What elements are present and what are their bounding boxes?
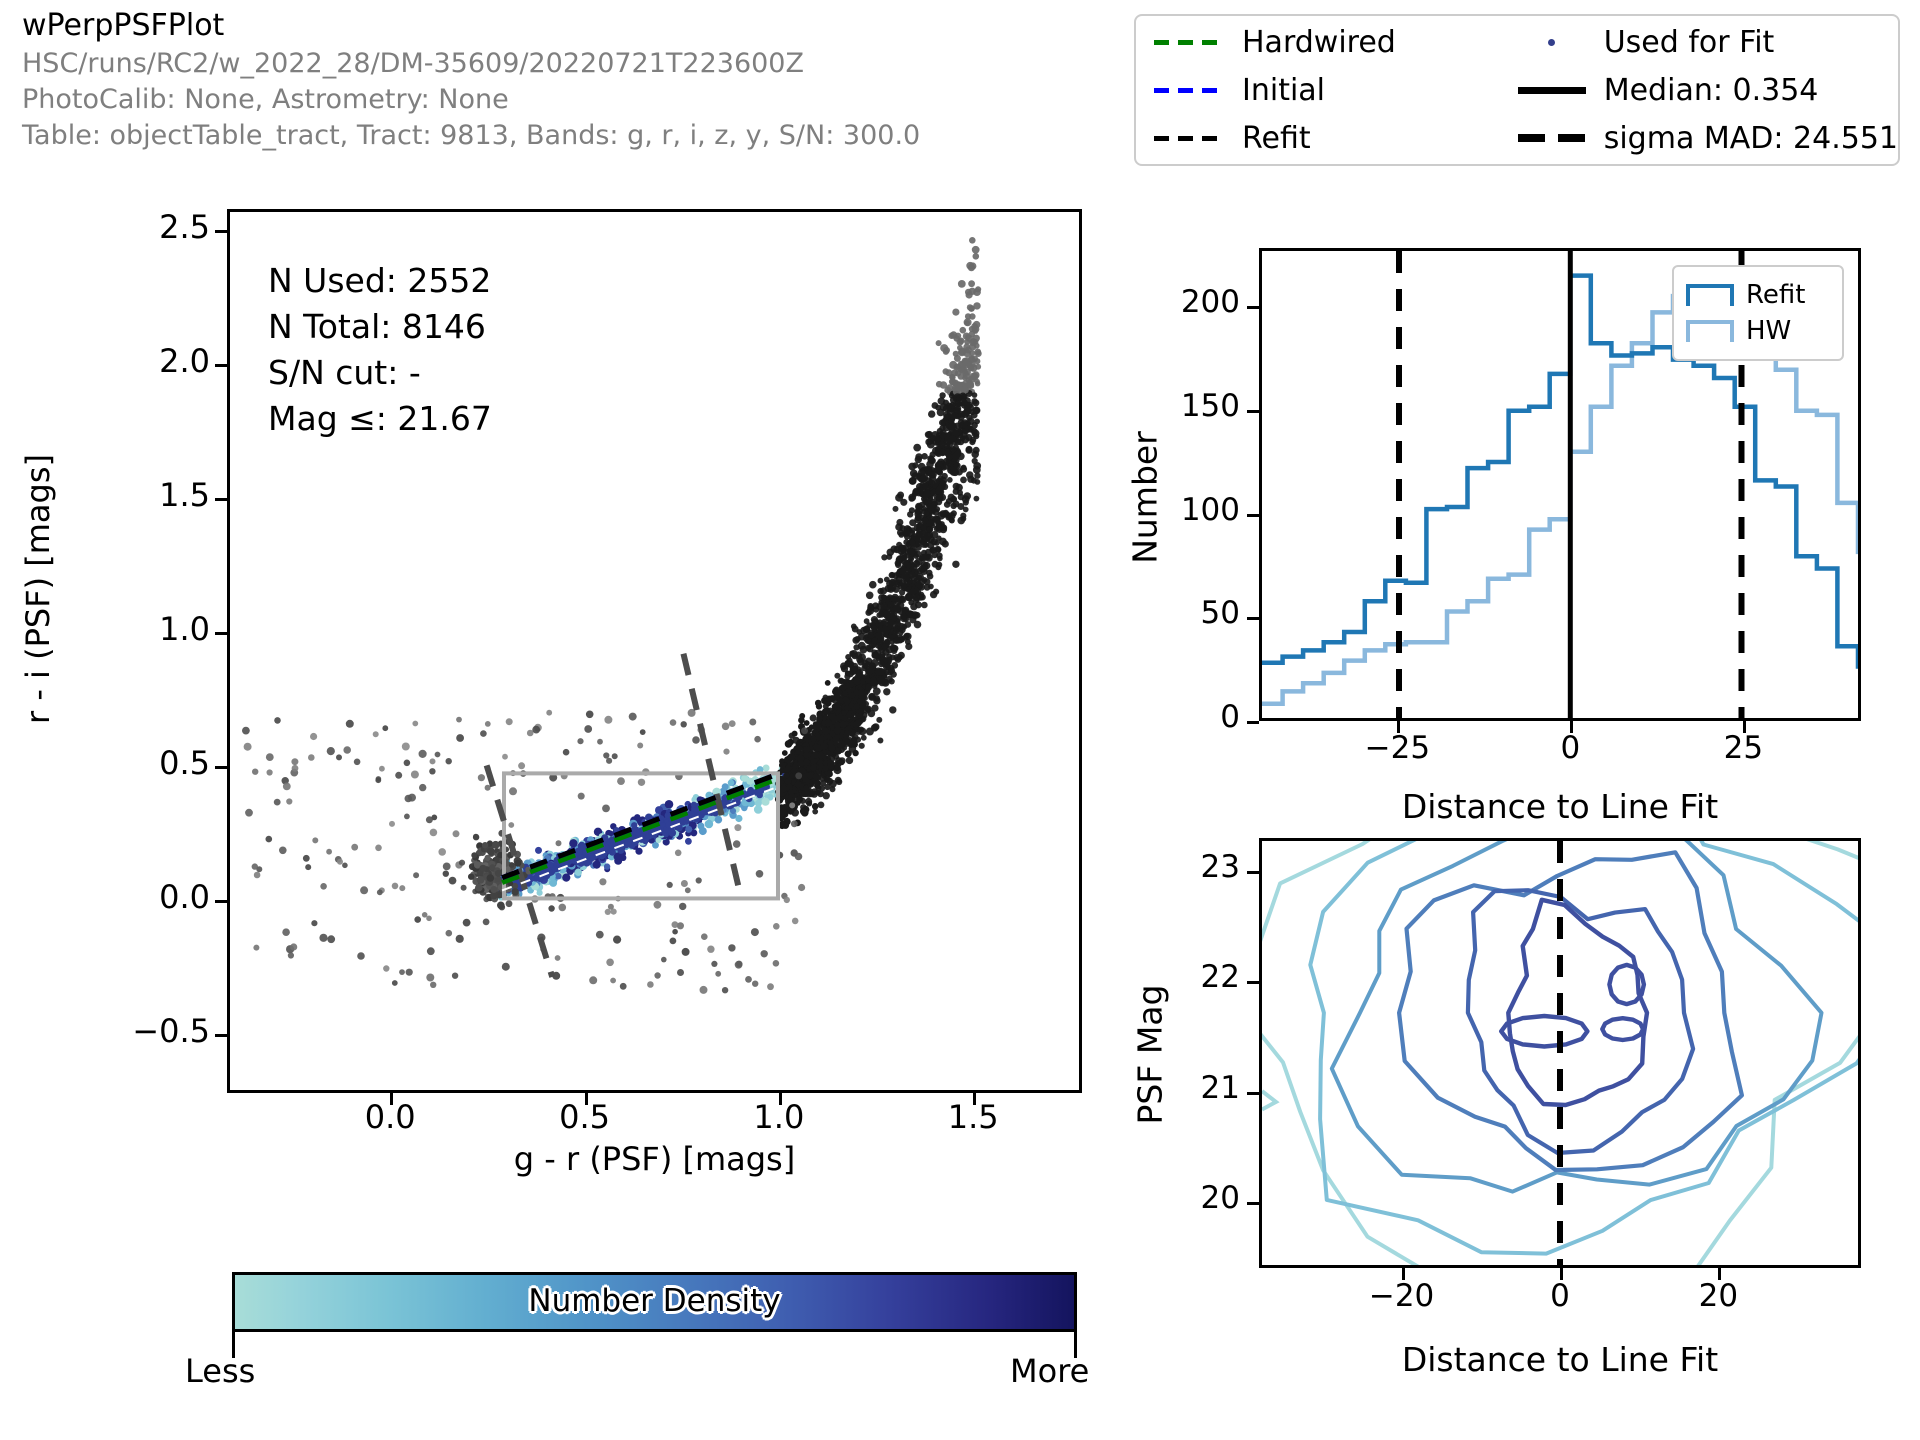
hw-swatch-icon (1686, 320, 1734, 342)
navy-dot-marker-icon (1516, 32, 1588, 52)
histogram-legend-item-refit: Refit (1686, 277, 1842, 313)
legend-label-used-for-fit: Used for Fit (1604, 25, 1775, 60)
histogram-legend-label-hw: HW (1746, 316, 1791, 346)
main-y-tick-mark (215, 632, 227, 635)
histogram-x-tick-label: 25 (1683, 730, 1803, 766)
main-x-tick-mark (973, 1093, 976, 1105)
histogram-x-axis-label: Distance to Line Fit (1259, 787, 1861, 826)
histogram-y-tick-label: 100 (1100, 492, 1240, 528)
histogram-y-tick-mark (1247, 410, 1259, 413)
histogram-y-tick-label: 50 (1100, 595, 1240, 631)
histogram-x-tick-mark (1570, 721, 1573, 733)
contour-y-tick-mark (1247, 981, 1259, 984)
main-y-tick-mark (215, 900, 227, 903)
contour-x-tick-label: 0 (1500, 1278, 1620, 1314)
stat-mag-cut: Mag ≤: 21.67 (268, 396, 492, 442)
contour-y-axis-label: PSF Mag (1131, 905, 1170, 1205)
contour-x-axis-label: Distance to Line Fit (1259, 1340, 1861, 1379)
stat-sn-cut: S/N cut: - (268, 350, 492, 396)
main-y-axis-label: r - i (PSF) [mags] (19, 219, 57, 959)
colorbar-title: Number Density (232, 1283, 1077, 1319)
main-y-tick-label: 0.0 (50, 878, 210, 916)
main-y-tick-label: 1.5 (50, 476, 210, 514)
legend-item-sigma-mad: sigma MAD: 24.551 (1516, 119, 1898, 157)
blue-dashed-line-icon (1154, 80, 1226, 100)
header-block: wPerpPSFPlot HSC/runs/RC2/w_2022_28/DM-3… (22, 6, 1082, 154)
histogram-y-tick-label: 150 (1100, 388, 1240, 424)
colorbar-high-label: More (1010, 1352, 1089, 1390)
main-x-tick-mark (585, 1093, 588, 1105)
black-heavy-dashed-line-icon (1516, 128, 1588, 148)
legend-label-sigma-mad: sigma MAD: 24.551 (1604, 121, 1898, 156)
legend-label-refit: Refit (1242, 121, 1311, 156)
stat-n-total: N Total: 8146 (268, 304, 492, 350)
main-y-tick-mark (215, 766, 227, 769)
legend-label-median: Median: 0.354 (1604, 73, 1819, 108)
black-solid-line-icon (1516, 80, 1588, 100)
histogram-y-tick-mark (1247, 617, 1259, 620)
histogram-y-tick-mark (1247, 514, 1259, 517)
colorbar-low-label: Less (185, 1352, 255, 1390)
histogram-y-tick-label: 0 (1100, 699, 1240, 735)
contour-canvas (1262, 841, 1858, 1265)
main-x-tick-mark (779, 1093, 782, 1105)
legend-item-refit: Refit (1154, 119, 1498, 157)
contour-x-tick-mark (1560, 1268, 1563, 1280)
refit-swatch-icon (1686, 284, 1734, 306)
contour-y-tick-label: 23 (1100, 849, 1240, 885)
histogram-y-tick-mark (1247, 306, 1259, 309)
histogram-x-tick-label: −25 (1337, 730, 1457, 766)
contour-y-tick-mark (1247, 1092, 1259, 1095)
main-x-axis-label: g - r (PSF) [mags] (227, 1140, 1082, 1178)
contour-y-tick-mark (1247, 1202, 1259, 1205)
contour-y-tick-label: 21 (1100, 1070, 1240, 1106)
histogram-x-tick-mark (1743, 721, 1746, 733)
stat-n-used: N Used: 2552 (268, 258, 492, 304)
subtitle-line-table: Table: objectTable_tract, Tract: 9813, B… (22, 118, 1082, 154)
distance-histogram-plot: Refit HW (1259, 248, 1861, 721)
contour-x-tick-mark (1402, 1268, 1405, 1280)
legend-item-initial: Initial (1154, 71, 1498, 109)
legend-label-initial: Initial (1242, 73, 1325, 108)
page-title: wPerpPSFPlot (22, 6, 1082, 46)
legend-label-hardwired: Hardwired (1242, 25, 1396, 60)
green-dashed-line-icon (1154, 32, 1226, 52)
contour-y-tick-label: 20 (1100, 1180, 1240, 1216)
legend-item-median: Median: 0.354 (1516, 71, 1898, 109)
contour-x-tick-mark (1718, 1268, 1721, 1280)
histogram-legend-label-refit: Refit (1746, 280, 1805, 310)
subtitle-line-collection: HSC/runs/RC2/w_2022_28/DM-35609/20220721… (22, 46, 1082, 82)
main-y-tick-mark (215, 498, 227, 501)
subtitle-line-calib: PhotoCalib: None, Astrometry: None (22, 82, 1082, 118)
main-y-tick-label: −0.5 (50, 1012, 210, 1050)
histogram-legend-item-hw: HW (1686, 313, 1842, 349)
histogram-y-tick-mark (1247, 721, 1259, 724)
main-y-tick-mark (215, 364, 227, 367)
histogram-y-tick-label: 200 (1100, 284, 1240, 320)
top-legend-column-left: Hardwired Initial Refit (1136, 23, 1498, 157)
main-y-tick-label: 2.5 (50, 208, 210, 246)
histogram-legend-box: Refit HW (1672, 265, 1844, 361)
top-legend-box: Hardwired Initial Refit Used for Fit Med… (1134, 14, 1900, 166)
contour-x-tick-label: 20 (1658, 1278, 1778, 1314)
contour-x-tick-label: −20 (1342, 1278, 1462, 1314)
main-y-tick-mark (215, 1034, 227, 1037)
main-y-tick-label: 1.0 (50, 610, 210, 648)
top-legend-column-right: Used for Fit Median: 0.354 sigma MAD: 24… (1498, 23, 1898, 157)
legend-item-used-for-fit: Used for Fit (1516, 23, 1898, 61)
main-y-tick-mark (215, 230, 227, 233)
main-y-tick-label: 0.5 (50, 744, 210, 782)
stats-annotation: N Used: 2552 N Total: 8146 S/N cut: - Ma… (268, 258, 492, 442)
histogram-x-tick-mark (1397, 721, 1400, 733)
contour-plot (1259, 838, 1861, 1268)
contour-y-tick-label: 22 (1100, 959, 1240, 995)
contour-y-tick-mark (1247, 871, 1259, 874)
main-x-tick-mark (390, 1093, 393, 1105)
black-dashed-line-icon (1154, 128, 1226, 148)
histogram-x-tick-label: 0 (1510, 730, 1630, 766)
legend-item-hardwired: Hardwired (1154, 23, 1498, 61)
main-y-tick-label: 2.0 (50, 342, 210, 380)
